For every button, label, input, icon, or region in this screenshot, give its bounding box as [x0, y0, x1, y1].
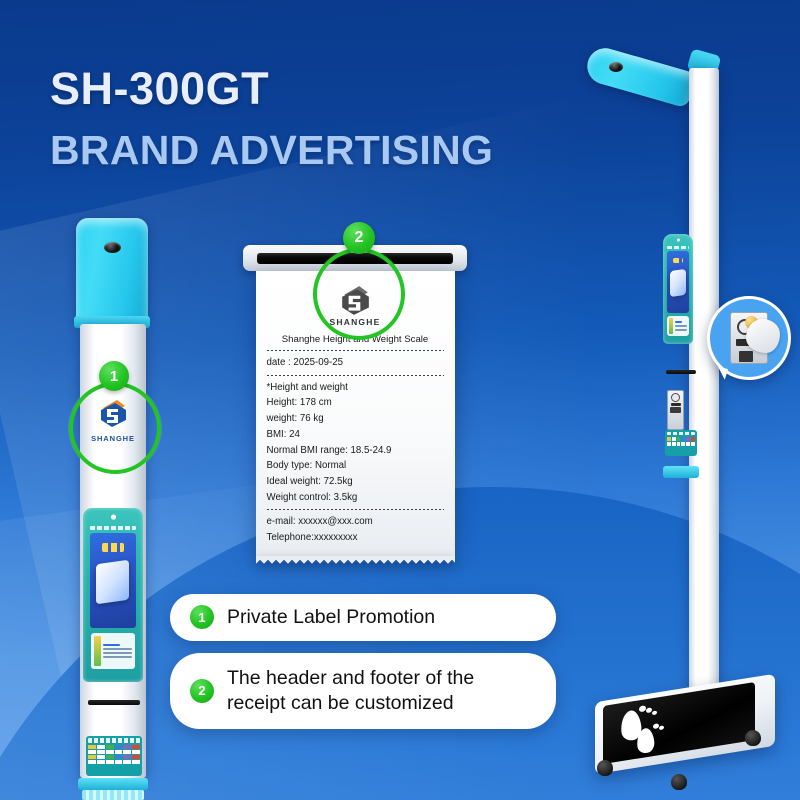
right-poster-person-icon	[675, 238, 682, 245]
bmi-chart-grid	[88, 745, 140, 764]
product-tagline: BRAND ADVERTISING	[50, 128, 493, 174]
receipt-telephone: Telephone:xxxxxxxxx	[267, 530, 444, 546]
right-poster-header-text	[667, 246, 689, 249]
left-scale-unit: SHANGHE 1	[60, 218, 180, 800]
right-poster-gauge-bar	[669, 318, 673, 334]
platform-leg	[597, 760, 613, 776]
right-cyan-band	[663, 466, 699, 478]
bubble-hand-icon	[746, 319, 780, 353]
right-poster-footer-info	[667, 316, 689, 336]
right-display-bar	[666, 370, 696, 374]
poster-gauge-bar	[94, 636, 101, 666]
callout-circle-1	[69, 382, 161, 474]
left-display-bar	[88, 700, 140, 705]
coin-dial-icon[interactable]	[671, 393, 680, 402]
right-poster-text-lines	[675, 318, 687, 334]
feature-text-1: Private Label Promotion	[227, 605, 435, 630]
platform-leg	[745, 730, 761, 746]
receipt-date: date : 2025-09-25	[267, 355, 444, 371]
bmi-chart-title	[88, 738, 140, 743]
callout-circle-2	[313, 248, 405, 340]
receipt-divider	[267, 375, 444, 376]
feature-text-2: The header and footer of the receipt can…	[227, 666, 536, 716]
feature-card-1[interactable]: 1 Private Label Promotion	[170, 594, 556, 641]
coin-return-tray-icon[interactable]	[670, 407, 681, 413]
receipt-section-label: *Height and weight	[267, 380, 444, 396]
poster-person-icon	[108, 514, 119, 525]
receipt-line: Weight control: 3.5kg	[267, 490, 444, 506]
right-sensor-arm	[583, 44, 697, 108]
receipt-line: Ideal weight: 72.5kg	[267, 474, 444, 490]
receipt-email: e-mail: xxxxxx@xxx.com	[267, 514, 444, 530]
advertising-poster: SH-300GT BRAND ADVERTISING SHANGHE 1	[0, 0, 800, 800]
right-advertising-poster-panel	[663, 234, 693, 344]
callout-badge-2: 2	[343, 222, 375, 254]
heading-block: SH-300GT BRAND ADVERTISING	[50, 65, 493, 174]
feature-number-1: 1	[190, 605, 214, 629]
feature-list: 1 Private Label Promotion 2 The header a…	[170, 594, 556, 741]
callout-badge-1: 1	[99, 361, 129, 391]
receipt-divider	[267, 509, 444, 510]
product-model-title: SH-300GT	[50, 65, 493, 114]
right-bmi-chart-grid	[667, 437, 695, 446]
right-bmi-chart-sticker	[665, 430, 697, 456]
right-poster-illustration	[667, 251, 689, 313]
receipt-line: weight: 76 kg	[267, 411, 444, 427]
platform-leg	[671, 774, 687, 790]
bubble-tray-icon	[739, 351, 753, 362]
left-base-collar	[78, 778, 148, 790]
poster-illustration	[90, 533, 136, 628]
right-scale-unit	[585, 38, 800, 768]
left-sensor-head	[76, 218, 148, 324]
receipt-line: BMI: 24	[267, 427, 444, 443]
coin-insert-callout-bubble	[707, 296, 791, 380]
footprint-left-toes-icon	[652, 710, 657, 715]
right-ultrasonic-sensor-icon	[609, 62, 623, 72]
receipt-line: Normal BMI range: 18.5-24.9	[267, 443, 444, 459]
poster-text-lines	[103, 636, 132, 666]
receipt-line: Height: 178 cm	[267, 395, 444, 411]
poster-footer-info	[91, 633, 135, 669]
footprint-left-toes-icon	[639, 705, 646, 712]
receipt-line: Body type: Normal	[267, 458, 444, 474]
right-bmi-chart-title	[667, 432, 695, 435]
left-ultrasonic-sensor-icon	[104, 242, 121, 253]
left-advertising-poster-panel	[83, 508, 143, 682]
poster-header-text	[90, 526, 136, 530]
receipt-torn-edge	[256, 556, 455, 564]
left-bmi-chart-sticker	[86, 736, 142, 776]
feature-number-2: 2	[190, 679, 214, 703]
footprint-right-toes-icon	[659, 725, 664, 730]
feature-card-2[interactable]: 2 The header and footer of the receipt c…	[170, 653, 556, 729]
coin-acceptor-module[interactable]	[667, 390, 684, 430]
right-base-platform	[595, 678, 795, 788]
coin-slot-icon[interactable]	[671, 403, 681, 406]
left-base-platform	[82, 790, 144, 800]
receipt-divider	[267, 350, 444, 351]
